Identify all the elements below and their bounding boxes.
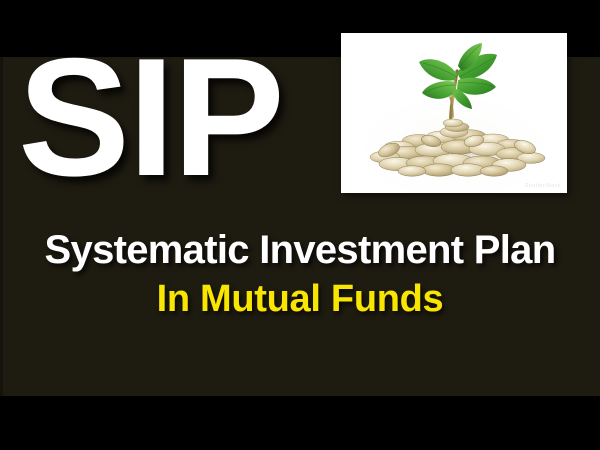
- poster-canvas: SIP: [0, 0, 600, 450]
- panel-left-edge: [0, 57, 3, 396]
- photo-watermark: ShutterStock: [525, 183, 561, 189]
- seedling-icon: [341, 33, 567, 193]
- poster-headline: Systematic Investment Plan: [0, 229, 600, 271]
- sip-wordmark: SIP: [18, 37, 338, 197]
- coins-plant-photo: ShutterStock: [341, 33, 567, 193]
- poster-subhead: In Mutual Funds: [0, 280, 600, 320]
